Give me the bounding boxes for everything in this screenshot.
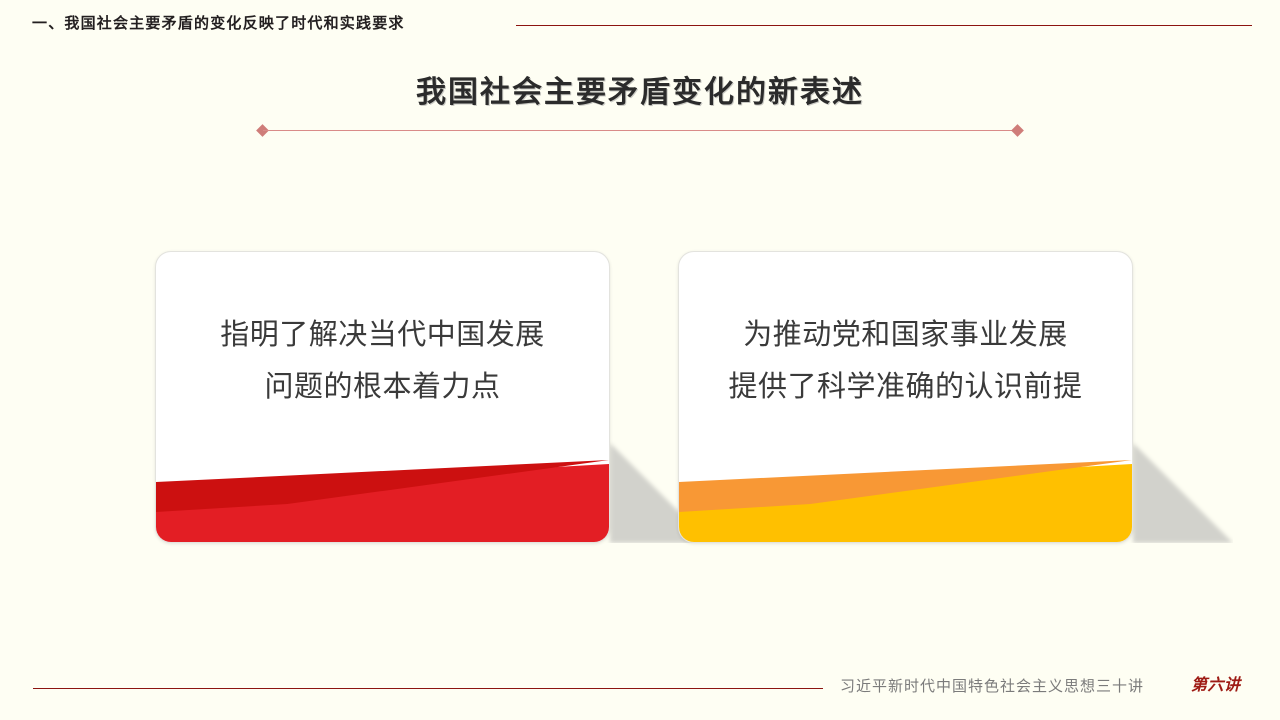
page-title: 我国社会主要矛盾变化的新表述 bbox=[0, 72, 1280, 114]
card-right-line-2: 提供了科学准确的认识前提 bbox=[679, 361, 1132, 413]
card-right-accent-art bbox=[679, 412, 1132, 542]
divider-line bbox=[263, 130, 1017, 131]
card-right-line-1: 为推动党和国家事业发展 bbox=[679, 309, 1132, 361]
card-left-line-1: 指明了解决当代中国发展 bbox=[156, 309, 609, 361]
card-right[interactable]: 为推动党和国家事业发展 提供了科学准确的认识前提 bbox=[678, 251, 1133, 543]
card-right-container: 为推动党和国家事业发展 提供了科学准确的认识前提 bbox=[678, 251, 1133, 543]
card-left[interactable]: 指明了解决当代中国发展 问题的根本着力点 bbox=[155, 251, 610, 543]
card-left-container: 指明了解决当代中国发展 问题的根本着力点 bbox=[155, 251, 610, 543]
diamond-right-icon bbox=[1011, 124, 1024, 137]
slide-canvas: 一、我国社会主要矛盾的变化反映了时代和实践要求 我国社会主要矛盾变化的新表述 指… bbox=[0, 0, 1280, 720]
title-divider bbox=[258, 126, 1022, 136]
card-left-accent-art bbox=[156, 412, 609, 542]
footer-lecture-label: 第六讲 bbox=[1191, 674, 1241, 698]
footer-series-title: 习近平新时代中国特色社会主义思想三十讲 bbox=[840, 676, 1144, 698]
section-label: 一、我国社会主要矛盾的变化反映了时代和实践要求 bbox=[32, 14, 405, 34]
card-left-text: 指明了解决当代中国发展 问题的根本着力点 bbox=[156, 309, 609, 413]
shadow-triangle bbox=[1133, 443, 1233, 543]
header-rule bbox=[516, 25, 1252, 26]
card-right-text: 为推动党和国家事业发展 提供了科学准确的认识前提 bbox=[679, 309, 1132, 413]
footer-rule bbox=[33, 688, 823, 689]
card-left-line-2: 问题的根本着力点 bbox=[156, 361, 609, 413]
slide-header: 一、我国社会主要矛盾的变化反映了时代和实践要求 bbox=[0, 0, 1280, 48]
